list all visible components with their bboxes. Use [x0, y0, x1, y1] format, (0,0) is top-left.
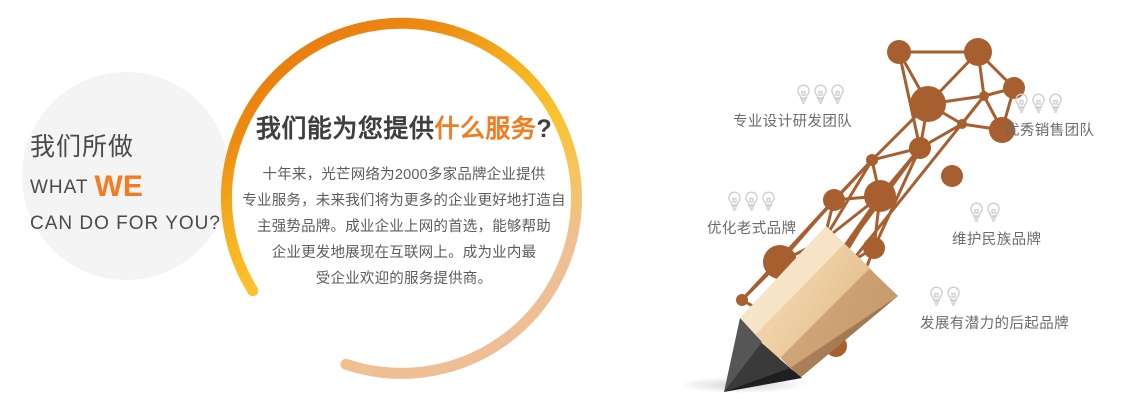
paragraph-line-1: 十年来，光芒网络为2000多家品牌企业提供 — [226, 162, 582, 188]
lightbulb-icon — [726, 190, 743, 214]
lightbulb-icon — [985, 201, 1002, 225]
tag-label-sales-team: 优秀销售团队 — [1005, 119, 1094, 140]
lightbulb-icon — [928, 285, 945, 309]
bulb-group-sales — [1005, 92, 1094, 118]
center-heading: 我们能为您提供什么服务? — [226, 116, 582, 144]
center-heading-plain: 我们能为您提供 — [256, 115, 435, 143]
bulb-group-design — [733, 83, 852, 109]
lightbulb-icon — [812, 83, 829, 107]
tag-design-team: 专业设计研发团队 — [733, 83, 852, 131]
tag-old-brand: 优化老式品牌 — [707, 190, 796, 238]
center-copy-block: 我们能为您提供什么服务? 十年来，光芒网络为2000多家品牌企业提供 专业服务，… — [226, 116, 582, 292]
tag-label-old-brand: 优化老式品牌 — [707, 217, 796, 238]
tag-potential-brand: 发展有潜力的后起品牌 — [920, 285, 1069, 333]
lightbulb-icon — [743, 190, 760, 214]
banner-root: 我们所做 WHATWE CAN DO FOR YOU? — [0, 0, 1126, 416]
tag-national-brand: 维护民族品牌 — [952, 201, 1041, 249]
bulb-group-national-brand — [952, 201, 1041, 227]
center-heading-suffix: ? — [536, 115, 552, 143]
left-en-we: WE — [95, 170, 143, 203]
lightbulb-icon — [945, 285, 962, 309]
lightbulb-icon — [829, 83, 846, 107]
paragraph-line-3: 主强势品牌。成业企业上网的首选，能够帮助 — [226, 214, 582, 240]
left-en-what: WHAT — [30, 177, 89, 198]
tag-label-national-brand: 维护民族品牌 — [952, 228, 1041, 249]
center-paragraph: 十年来，光芒网络为2000多家品牌企业提供 专业服务，未来我们将为更多的企业更好… — [226, 162, 582, 292]
tag-label-design-team: 专业设计研发团队 — [733, 110, 852, 131]
lightbulb-icon — [1047, 92, 1064, 116]
lightbulb-icon — [1013, 92, 1030, 116]
paragraph-line-4: 企业更发地展现在互联网上。成为业内最 — [226, 240, 582, 266]
bulb-group-potential-brand — [920, 285, 1069, 311]
paragraph-line-2: 专业服务，未来我们将为更多的企业更好地打造自 — [226, 188, 582, 214]
tag-sales-team: 优秀销售团队 — [1005, 92, 1094, 140]
lightbulb-icon — [760, 190, 777, 214]
bulb-group-old-brand — [707, 190, 796, 216]
tag-label-potential-brand: 发展有潜力的后起品牌 — [920, 312, 1069, 333]
lightbulb-icon — [1030, 92, 1047, 116]
paragraph-line-5: 受企业欢迎的服务提供商。 — [226, 266, 582, 292]
center-heading-highlight: 什么服务 — [434, 115, 536, 143]
lightbulb-icon — [968, 201, 985, 225]
lightbulb-icon — [795, 83, 812, 107]
